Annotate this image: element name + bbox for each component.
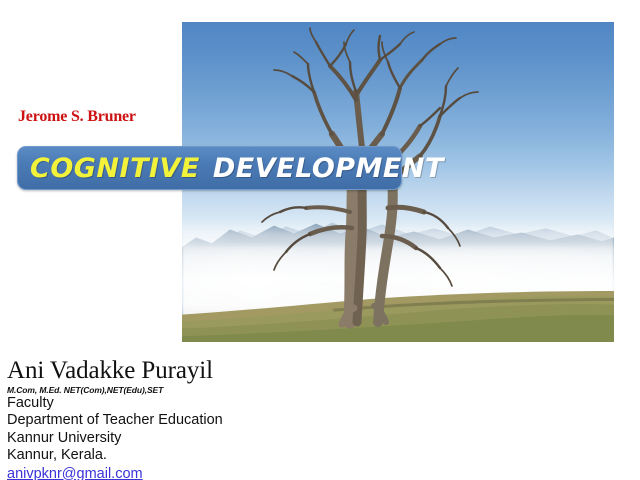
title-banner: COGNITIVE DEVELOPMENT <box>17 146 402 190</box>
presenter-name: Ani Vadakke Purayil <box>7 358 337 384</box>
author-credit-text: Jerome S. Bruner <box>18 108 136 126</box>
title-word-cognitive: COGNITIVE <box>18 155 200 182</box>
presenter-email-link[interactable]: anivpknr@gmail.com <box>7 466 143 480</box>
slide-canvas: Jerome S. Bruner COGNITIVE DEVELOPMENT A… <box>0 0 640 480</box>
presenter-line-location: Kannur, Kerala. <box>7 447 337 464</box>
presenter-line-department: Department of Teacher Education <box>7 412 337 429</box>
presenter-info-block: Ani Vadakke Purayil M.Com, M.Ed. NET(Com… <box>7 358 337 480</box>
presenter-qualifications: M.Com, M.Ed. NET(Com),NET(Edu),SET <box>7 385 337 395</box>
presenter-line-university: Kannur University <box>7 430 337 447</box>
title-word-development: DEVELOPMENT <box>200 155 444 182</box>
presenter-line-designation: Faculty <box>7 395 337 412</box>
